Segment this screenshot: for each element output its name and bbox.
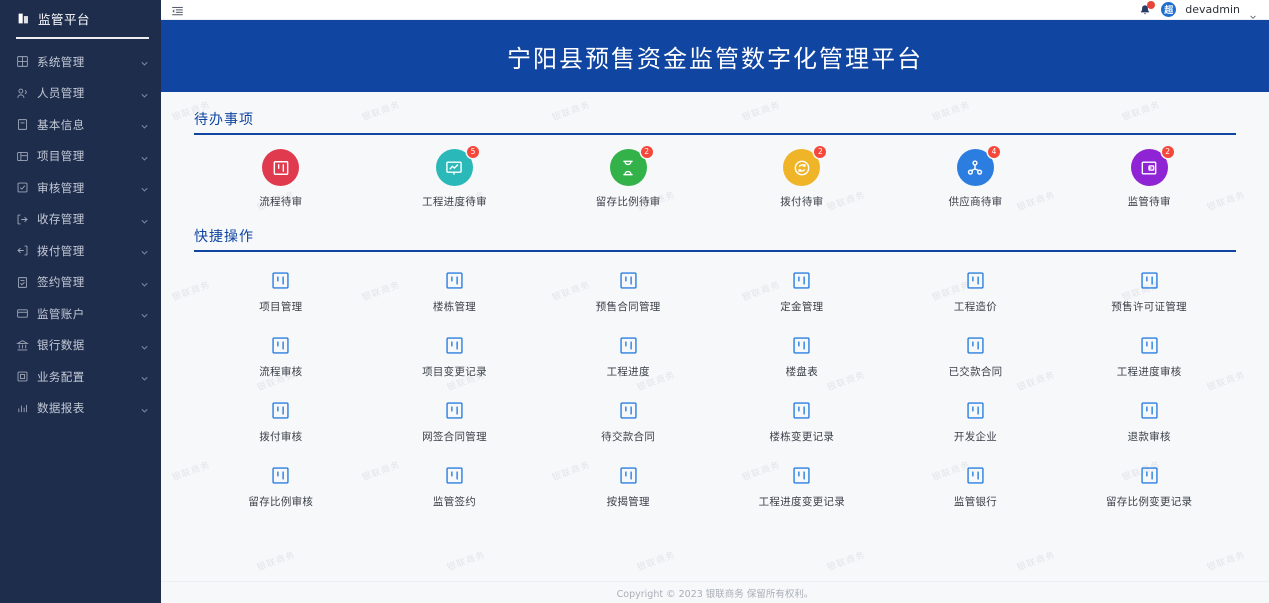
sidebar-item-label: 人员管理 [37, 85, 140, 101]
user-group-icon [16, 87, 29, 100]
chevron-down-icon[interactable] [1249, 6, 1257, 14]
sidebar-item-label: 银行数据 [37, 337, 140, 353]
check-square-icon [16, 181, 29, 194]
quick-item-16[interactable]: 楼栋变更记录 [715, 400, 889, 444]
todo-icon-wrap: 2 [783, 149, 820, 186]
sidebar-item-12[interactable]: 数据报表 [0, 393, 161, 425]
module-icon [965, 465, 986, 486]
sidebar-item-label: 数据报表 [37, 400, 140, 416]
todo-item-6[interactable]: 2监管待审 [1062, 149, 1236, 209]
quick-item-20[interactable]: 监管签约 [368, 465, 542, 509]
todo-icon-wrap [262, 149, 299, 186]
quick-item-11[interactable]: 已交款合同 [889, 335, 1063, 379]
module-icon [791, 400, 812, 421]
sidebar-brand-label: 监管平台 [38, 9, 90, 28]
sidebar-item-label: 监管账户 [37, 306, 140, 322]
sidebar-brand-underline [16, 37, 149, 39]
module-icon [270, 270, 291, 291]
chevron-down-icon[interactable] [140, 341, 149, 350]
todo-badge: 5 [467, 146, 479, 158]
bell-badge [1147, 1, 1155, 9]
quick-label: 拨付审核 [259, 429, 302, 444]
module-icon [791, 270, 812, 291]
quick-section-header: 快捷操作 [194, 209, 1236, 252]
chevron-down-icon[interactable] [140, 404, 149, 413]
watermark-text: 银联商务 [1205, 548, 1247, 574]
quick-label: 工程造价 [954, 299, 997, 314]
watermark-text: 银联商务 [445, 548, 487, 574]
page-banner: 宁阳县预售资金监管数字化管理平台 [161, 20, 1269, 92]
module-icon [618, 335, 639, 356]
quick-item-12[interactable]: 工程进度审核 [1062, 335, 1236, 379]
quick-label: 留存比例审核 [248, 494, 313, 509]
project-icon [16, 150, 29, 163]
topbar-right: 超 devadmin [1138, 2, 1257, 17]
quick-item-9[interactable]: 工程进度 [541, 335, 715, 379]
sidebar-item-label: 拨付管理 [37, 243, 140, 259]
app-root: 监管平台 系统管理人员管理基本信息项目管理审核管理收存管理拨付管理签约管理监管账… [0, 0, 1269, 603]
contract-icon [16, 276, 29, 289]
main-area: 超 devadmin 宁阳县预售资金监管数字化管理平台 银联商务银联商务银联商务… [161, 0, 1269, 603]
quick-section-title: 快捷操作 [194, 226, 254, 250]
sidebar: 监管平台 系统管理人员管理基本信息项目管理审核管理收存管理拨付管理签约管理监管账… [0, 0, 161, 603]
quick-item-18[interactable]: 退款审核 [1062, 400, 1236, 444]
quick-item-7[interactable]: 流程审核 [194, 335, 368, 379]
quick-label: 预售许可证管理 [1111, 299, 1187, 314]
module-icon [618, 270, 639, 291]
flow-audit-icon [262, 149, 299, 186]
quick-item-19[interactable]: 留存比例审核 [194, 465, 368, 509]
todo-label: 流程待审 [259, 194, 302, 209]
quick-label: 网签合同管理 [422, 429, 487, 444]
quick-item-5[interactable]: 工程造价 [889, 270, 1063, 314]
inbox-in-icon [16, 213, 29, 226]
quick-label: 项目变更记录 [422, 364, 487, 379]
grid-icon [16, 55, 29, 68]
sidebar-item-3[interactable]: 基本信息 [0, 109, 161, 141]
sidebar-item-10[interactable]: 银行数据 [0, 330, 161, 362]
content-area: 银联商务银联商务银联商务银联商务银联商务银联商务银联商务银联商务银联商务银联商务… [161, 92, 1269, 581]
sidebar-item-5[interactable]: 审核管理 [0, 172, 161, 204]
watermark-text: 银联商务 [825, 548, 867, 574]
quick-item-8[interactable]: 项目变更记录 [368, 335, 542, 379]
chevron-down-icon[interactable] [140, 120, 149, 129]
todo-label: 拨付待审 [780, 194, 823, 209]
todo-item-5[interactable]: 4供应商待审 [889, 149, 1063, 209]
menu-fold-icon[interactable] [171, 3, 184, 16]
watermark-text: 银联商务 [1015, 548, 1057, 574]
chevron-down-icon[interactable] [140, 246, 149, 255]
chevron-down-icon[interactable] [140, 372, 149, 381]
sidebar-item-9[interactable]: 监管账户 [0, 298, 161, 330]
todo-badge: 2 [641, 146, 653, 158]
quick-label: 楼栋管理 [433, 299, 476, 314]
todo-label: 留存比例待审 [596, 194, 661, 209]
sidebar-item-label: 系统管理 [37, 54, 140, 70]
todo-label: 工程进度待审 [422, 194, 487, 209]
todo-badge: 2 [814, 146, 826, 158]
topbar: 超 devadmin [161, 0, 1269, 20]
todo-grid: 流程待审5工程进度待审2留存比例待审2拨付待审4供应商待审2监管待审 [194, 135, 1236, 209]
quick-item-24[interactable]: 留存比例变更记录 [1062, 465, 1236, 509]
quick-item-3[interactable]: 预售合同管理 [541, 270, 715, 314]
todo-item-2[interactable]: 5工程进度待审 [368, 149, 542, 209]
quick-grid: 项目管理楼栋管理预售合同管理定金管理工程造价预售许可证管理流程审核项目变更记录工… [194, 252, 1236, 509]
quick-item-15[interactable]: 待交款合同 [541, 400, 715, 444]
quick-item-23[interactable]: 监管银行 [889, 465, 1063, 509]
chevron-down-icon[interactable] [140, 183, 149, 192]
watermark-text: 银联商务 [635, 548, 677, 574]
quick-label: 按揭管理 [607, 494, 650, 509]
sidebar-item-4[interactable]: 项目管理 [0, 141, 161, 173]
quick-label: 监管签约 [433, 494, 476, 509]
account-card-icon [16, 307, 29, 320]
todo-icon-wrap: 2 [610, 149, 647, 186]
todo-badge: 2 [1162, 146, 1174, 158]
inbox-out-icon [16, 244, 29, 257]
quick-item-14[interactable]: 网签合同管理 [368, 400, 542, 444]
module-icon [270, 465, 291, 486]
module-icon [791, 335, 812, 356]
chevron-down-icon[interactable] [140, 57, 149, 66]
quick-label: 退款审核 [1128, 429, 1171, 444]
quick-label: 流程审核 [259, 364, 302, 379]
module-icon [1139, 400, 1160, 421]
module-icon [1139, 270, 1160, 291]
quick-label: 定金管理 [780, 299, 823, 314]
watermark-text: 银联商务 [255, 548, 297, 574]
quick-label: 工程进度 [607, 364, 650, 379]
copyright-text: Copyright © 2023 银联商务 保留所有权利。 [617, 586, 814, 600]
chevron-down-icon[interactable] [140, 278, 149, 287]
sidebar-item-label: 业务配置 [37, 369, 140, 385]
module-icon [444, 465, 465, 486]
quick-item-1[interactable]: 项目管理 [194, 270, 368, 314]
quick-item-13[interactable]: 拨付审核 [194, 400, 368, 444]
quick-item-6[interactable]: 预售许可证管理 [1062, 270, 1236, 314]
sidebar-item-8[interactable]: 签约管理 [0, 267, 161, 299]
sidebar-item-6[interactable]: 收存管理 [0, 204, 161, 236]
todo-icon-wrap: 2 [1131, 149, 1168, 186]
quick-label: 项目管理 [259, 299, 302, 314]
sidebar-item-label: 基本信息 [37, 117, 140, 133]
module-icon [1139, 335, 1160, 356]
module-icon [618, 400, 639, 421]
chevron-down-icon[interactable] [140, 215, 149, 224]
module-icon [270, 335, 291, 356]
quick-item-22[interactable]: 工程进度变更记录 [715, 465, 889, 509]
sidebar-menu: 系统管理人员管理基本信息项目管理审核管理收存管理拨付管理签约管理监管账户银行数据… [0, 39, 161, 424]
quick-item-4[interactable]: 定金管理 [715, 270, 889, 314]
module-icon [1139, 465, 1160, 486]
quick-label: 工程进度变更记录 [759, 494, 845, 509]
todo-icon-wrap: 4 [957, 149, 994, 186]
bar-chart-icon [16, 402, 29, 415]
chevron-down-icon[interactable] [140, 152, 149, 161]
module-icon [965, 270, 986, 291]
quick-label: 开发企业 [954, 429, 997, 444]
quick-label: 预售合同管理 [596, 299, 661, 314]
todo-item-1[interactable]: 流程待审 [194, 149, 368, 209]
quick-label: 楼盘表 [786, 364, 818, 379]
config-icon [16, 370, 29, 383]
quick-label: 工程进度审核 [1117, 364, 1182, 379]
quick-label: 留存比例变更记录 [1106, 494, 1192, 509]
sidebar-item-7[interactable]: 拨付管理 [0, 235, 161, 267]
quick-label: 监管银行 [954, 494, 997, 509]
chevron-down-icon[interactable] [140, 309, 149, 318]
bank-icon [16, 339, 29, 352]
todo-section-title: 待办事项 [194, 109, 254, 133]
quick-label: 楼栋变更记录 [769, 429, 834, 444]
footer: Copyright © 2023 银联商务 保留所有权利。 [161, 581, 1269, 603]
building-icon [16, 11, 30, 25]
sidebar-item-label: 项目管理 [37, 148, 140, 164]
avatar[interactable]: 超 [1161, 2, 1176, 17]
module-icon [791, 465, 812, 486]
sidebar-brand[interactable]: 监管平台 [0, 0, 161, 36]
sidebar-item-label: 审核管理 [37, 180, 140, 196]
page-title: 宁阳县预售资金监管数字化管理平台 [507, 39, 923, 74]
module-icon [444, 335, 465, 356]
module-icon [965, 335, 986, 356]
quick-label: 已交款合同 [948, 364, 1002, 379]
todo-icon-wrap: 5 [436, 149, 473, 186]
todo-badge: 4 [988, 146, 1000, 158]
todo-item-3[interactable]: 2留存比例待审 [541, 149, 715, 209]
quick-item-2[interactable]: 楼栋管理 [368, 270, 542, 314]
quick-item-21[interactable]: 按揭管理 [541, 465, 715, 509]
quick-item-17[interactable]: 开发企业 [889, 400, 1063, 444]
module-icon [444, 400, 465, 421]
todo-section-header: 待办事项 [194, 92, 1236, 135]
sidebar-item-2[interactable]: 人员管理 [0, 78, 161, 110]
info-card-icon [16, 118, 29, 131]
sidebar-item-label: 签约管理 [37, 274, 140, 290]
quick-label: 待交款合同 [601, 429, 655, 444]
quick-item-10[interactable]: 楼盘表 [715, 335, 889, 379]
module-icon [270, 400, 291, 421]
sidebar-item-1[interactable]: 系统管理 [0, 46, 161, 78]
username-label: devadmin [1185, 3, 1240, 16]
todo-item-4[interactable]: 2拨付待审 [715, 149, 889, 209]
todo-label: 监管待审 [1128, 194, 1171, 209]
module-icon [618, 465, 639, 486]
bell-icon[interactable] [1138, 3, 1152, 17]
module-icon [965, 400, 986, 421]
chevron-down-icon[interactable] [140, 89, 149, 98]
module-icon [444, 270, 465, 291]
sidebar-item-label: 收存管理 [37, 211, 140, 227]
sidebar-item-11[interactable]: 业务配置 [0, 361, 161, 393]
todo-label: 供应商待审 [948, 194, 1002, 209]
